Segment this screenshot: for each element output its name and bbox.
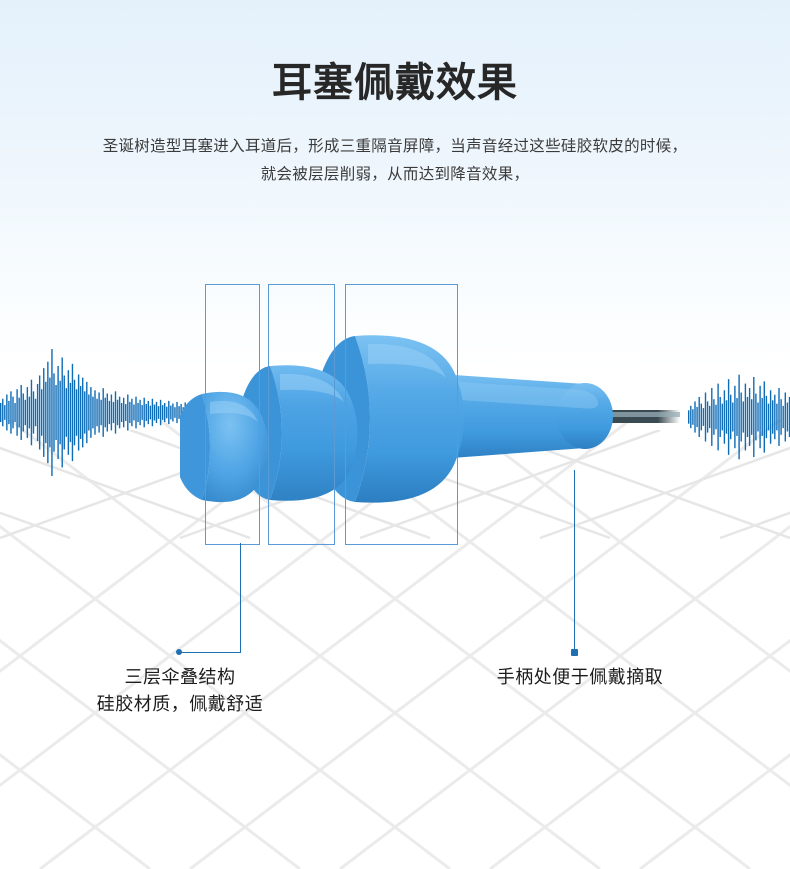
incoming-sound-waveform: [0, 345, 205, 480]
leader-line-left-horizontal: [180, 652, 241, 653]
caption-three-layer-structure: 三层伞叠结构 硅胶材质，佩戴舒适: [30, 664, 330, 718]
page-title: 耳塞佩戴效果: [0, 60, 790, 106]
leader-dot-left: [176, 649, 182, 655]
leader-line-right-vertical: [574, 470, 575, 653]
leader-dot-right: [571, 649, 578, 656]
callout-box-flange-2: [268, 284, 335, 545]
callout-box-flange-3: [345, 284, 458, 545]
page-subtitle: 圣诞树造型耳塞进入耳道后，形成三重隔音屏障，当声音经过这些硅胶软皮的时候，就会被…: [95, 133, 695, 189]
callout-box-flange-1: [205, 284, 260, 545]
attenuated-sound-waveform: [688, 372, 790, 462]
caption-handle-easy-removal: 手柄处便于佩戴摘取: [440, 664, 720, 691]
product-detail-page: 耳塞佩戴效果 圣诞树造型耳塞进入耳道后，形成三重隔音屏障，当声音经过这些硅胶软皮…: [0, 0, 790, 869]
leader-line-left-vertical: [240, 543, 241, 653]
